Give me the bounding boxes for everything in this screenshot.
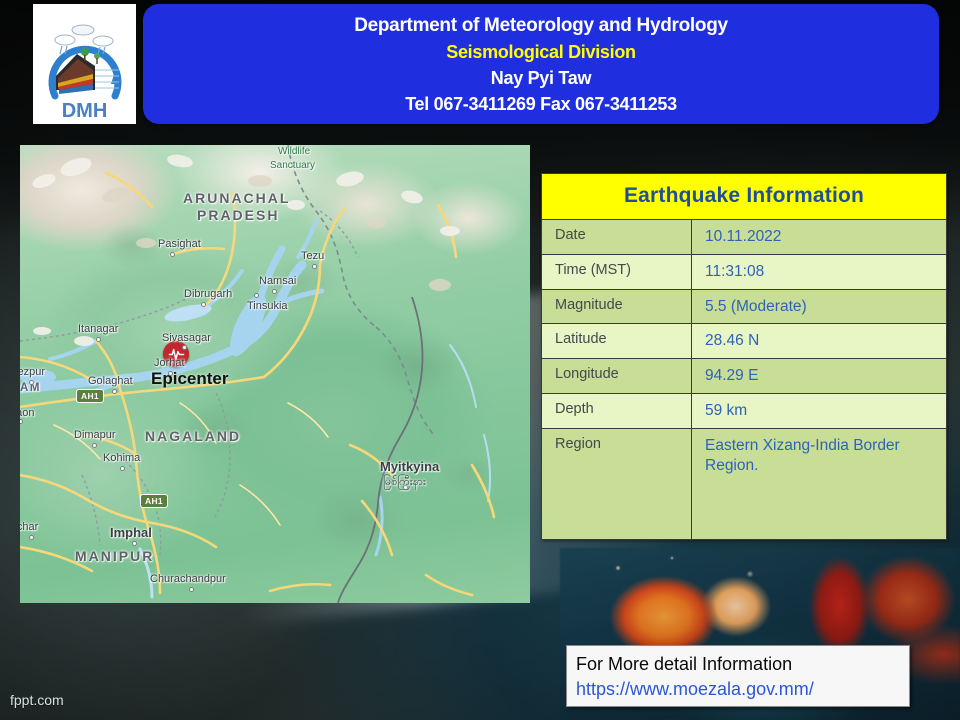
- table-body: Date10.11.2022Time (MST)11:31:08Magnitud…: [542, 220, 947, 540]
- table-title: Earthquake Information: [542, 174, 947, 220]
- table-cell-key: Latitude: [542, 324, 692, 359]
- more-info-link[interactable]: https://www.moezala.gov.mm/: [576, 677, 909, 701]
- table-cell-value: Eastern Xizang-India Border Region.: [692, 428, 947, 539]
- map-city-dot: [254, 293, 259, 298]
- map-city-dot: [29, 380, 34, 385]
- table-cell-key: Longitude: [542, 359, 692, 394]
- table-cell-key: Depth: [542, 394, 692, 429]
- epicenter-label: Epicenter: [151, 369, 228, 389]
- map-city-dot: [132, 541, 137, 546]
- map-vectors: [20, 145, 530, 603]
- table-cell-key: Region: [542, 428, 692, 539]
- table-cell-value: 28.46 N: [692, 324, 947, 359]
- map-city-dot: [112, 389, 117, 394]
- map-highway-shield: AH1: [140, 494, 168, 508]
- map-city-dot: [272, 289, 277, 294]
- map-city-dot: [201, 302, 206, 307]
- table-cell-value: 10.11.2022: [692, 220, 947, 255]
- table-row: Date10.11.2022: [542, 220, 947, 255]
- map-city-dot: [403, 485, 408, 490]
- logo-text: DMH: [62, 100, 108, 122]
- more-info-label: For More detail Information: [576, 651, 909, 677]
- earthquake-info-table: Earthquake Information Date10.11.2022Tim…: [541, 173, 947, 540]
- map-city-dot: [170, 252, 175, 257]
- water-cycle-icon: DMH: [33, 4, 136, 124]
- table-row: Longitude94.29 E: [542, 359, 947, 394]
- table-row: Depth59 km: [542, 394, 947, 429]
- header-banner: Department of Meteorology and Hydrology …: [143, 4, 939, 124]
- more-info-box[interactable]: For More detail Information https://www.…: [566, 645, 910, 707]
- map-city-dot: [120, 466, 125, 471]
- table-cell-key: Time (MST): [542, 254, 692, 289]
- table-cell-value: 5.5 (Moderate): [692, 289, 947, 324]
- table-row: Magnitude5.5 (Moderate): [542, 289, 947, 324]
- header-city: Nay Pyi Taw: [491, 69, 591, 87]
- map-city-dot: [182, 345, 187, 350]
- map-city-dot: [96, 337, 101, 342]
- map-city-dot: [312, 264, 317, 269]
- header-division: Seismological Division: [446, 43, 635, 61]
- table-row: Latitude28.46 N: [542, 324, 947, 359]
- header-department: Department of Meteorology and Hydrology: [354, 16, 728, 35]
- map-city-dot: [189, 587, 194, 592]
- table-cell-key: Date: [542, 220, 692, 255]
- watermark: fppt.com: [10, 692, 64, 708]
- table-cell-value: 59 km: [692, 394, 947, 429]
- map-city-dot: [92, 443, 97, 448]
- map-city-dot: [168, 371, 173, 376]
- dmh-logo: DMH: [33, 4, 136, 124]
- header-contact: Tel 067-3411269 Fax 067-3411253: [405, 95, 677, 113]
- table-row: RegionEastern Xizang-India Border Region…: [542, 428, 947, 539]
- table-cell-value: 94.29 E: [692, 359, 947, 394]
- slide-root: DMH Department of Meteorology and Hydrol…: [0, 0, 960, 720]
- map-panel[interactable]: Epicenter WildlifeSanctuaryARUNACHALPRAD…: [20, 145, 530, 603]
- table-row: Time (MST)11:31:08: [542, 254, 947, 289]
- map-city-dot: [29, 535, 34, 540]
- table-cell-key: Magnitude: [542, 289, 692, 324]
- table-cell-value: 11:31:08: [692, 254, 947, 289]
- map-highway-shield: AH1: [76, 389, 104, 403]
